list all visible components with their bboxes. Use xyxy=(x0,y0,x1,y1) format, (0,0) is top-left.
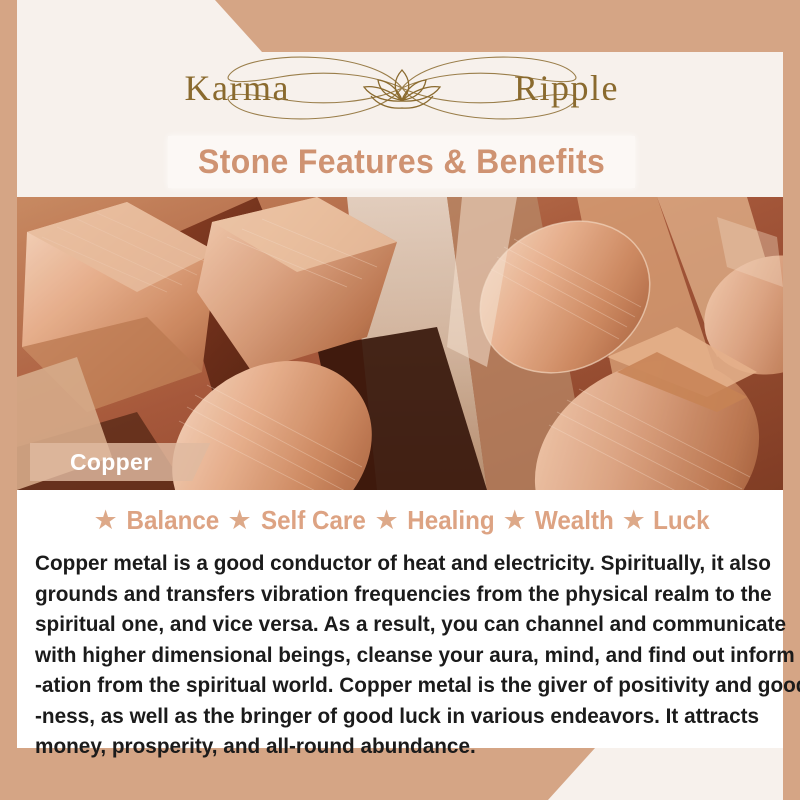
description-line: spiritual one, and vice versa. As a resu… xyxy=(35,609,738,640)
feature-item-healing: Healing xyxy=(407,505,494,536)
feature-item-wealth: Wealth xyxy=(535,505,614,536)
feature-item-self-care: Self Care xyxy=(261,505,366,536)
star-icon: ★ xyxy=(227,507,251,534)
brand-name-right: Ripple xyxy=(514,68,619,108)
star-icon: ★ xyxy=(622,507,646,534)
description-line: money, prosperity, and all-round abundan… xyxy=(35,731,738,762)
feature-item-balance: Balance xyxy=(126,505,219,536)
feature-item-luck: Luck xyxy=(653,505,709,536)
star-icon: ★ xyxy=(374,507,398,534)
frame-band-left xyxy=(0,0,17,800)
page-body: Karma Ripple Stone Features & Benefits xyxy=(17,52,783,748)
title-banner: Stone Features & Benefits xyxy=(168,136,635,188)
description-line: with higher dimensional beings, cleanse … xyxy=(35,640,738,671)
description-line: -ness, as well as the bringer of good lu… xyxy=(35,701,738,732)
brand-logo: Karma Ripple xyxy=(17,52,783,124)
content-panel: ★ Balance ★ Self Care ★ Healing ★ Wealth… xyxy=(17,490,783,748)
star-icon: ★ xyxy=(503,507,527,534)
brand-name-left: Karma xyxy=(185,68,290,108)
product-info-card: Karma Ripple Stone Features & Benefits xyxy=(0,0,800,800)
page-title: Stone Features & Benefits xyxy=(198,143,605,182)
copper-photo: Copper xyxy=(17,197,783,490)
description-line: Copper metal is a good conductor of heat… xyxy=(35,548,738,579)
photo-caption-text: Copper xyxy=(70,449,152,476)
lotus-icon xyxy=(364,70,440,108)
star-icon: ★ xyxy=(94,507,118,534)
frame-band-top xyxy=(0,0,800,52)
photo-caption-bar: Copper xyxy=(30,443,210,481)
feature-list: ★ Balance ★ Self Care ★ Healing ★ Wealth… xyxy=(17,490,783,546)
description-line: -ation from the spiritual world. Copper … xyxy=(35,670,738,701)
description-line: grounds and transfers vibration frequenc… xyxy=(35,579,738,610)
description-text: Copper metal is a good conductor of heat… xyxy=(17,546,783,762)
